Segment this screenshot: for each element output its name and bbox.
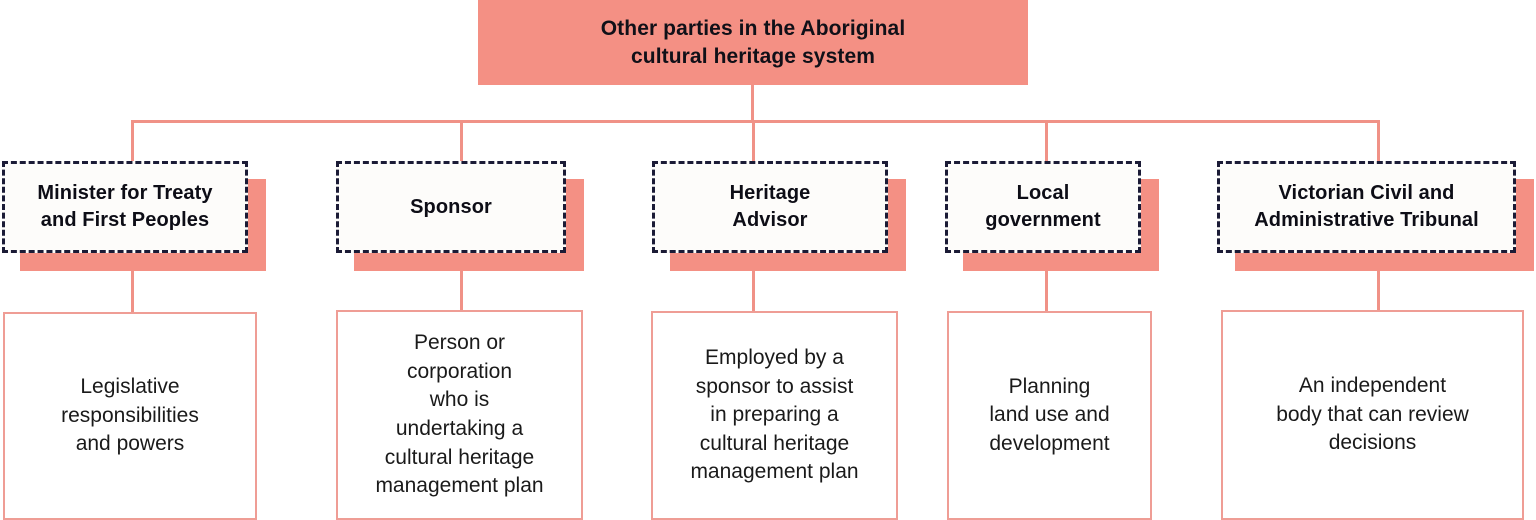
role-node-box[interactable]: Minister for Treaty and First Peoples bbox=[2, 161, 248, 253]
role-node-box[interactable]: Victorian Civil and Administrative Tribu… bbox=[1217, 161, 1516, 253]
description-text: Person or corporation who is undertaking… bbox=[375, 329, 543, 500]
role-node-vcat: Victorian Civil and Administrative Tribu… bbox=[1217, 161, 1516, 253]
description-box-sponsor: Person or corporation who is undertaking… bbox=[336, 310, 583, 520]
role-node-label: Victorian Civil and Administrative Tribu… bbox=[1254, 180, 1479, 233]
connector-drop-3 bbox=[752, 120, 755, 162]
description-text: Planning land use and development bbox=[989, 373, 1109, 459]
role-node-box[interactable]: Sponsor bbox=[336, 161, 566, 253]
connector-role-to-desc-4 bbox=[1045, 269, 1048, 312]
role-node-local-government: Local government bbox=[945, 161, 1141, 253]
connector-drop-1 bbox=[131, 120, 134, 162]
connector-role-to-desc-1 bbox=[131, 269, 134, 313]
description-text: Employed by a sponsor to assist in prepa… bbox=[690, 344, 858, 487]
role-node-sponsor: Sponsor bbox=[336, 161, 566, 253]
description-text: An independent body that can review deci… bbox=[1276, 372, 1469, 458]
role-node-minister: Minister for Treaty and First Peoples bbox=[2, 161, 248, 253]
connector-drop-2 bbox=[460, 120, 463, 162]
connector-horizontal-bar bbox=[131, 120, 1380, 123]
role-node-label: Sponsor bbox=[410, 194, 492, 221]
description-box-vcat: An independent body that can review deci… bbox=[1221, 310, 1524, 520]
connector-drop-5 bbox=[1377, 120, 1380, 162]
role-node-label: Minister for Treaty and First Peoples bbox=[37, 180, 212, 233]
role-node-label: Local government bbox=[985, 180, 1100, 233]
org-chart-diagram: Other parties in the Aboriginal cultural… bbox=[0, 0, 1536, 516]
connector-role-to-desc-2 bbox=[460, 269, 463, 311]
root-node-other-parties: Other parties in the Aboriginal cultural… bbox=[478, 0, 1028, 85]
description-text: Legislative responsibilities and powers bbox=[61, 373, 199, 459]
connector-root-stem bbox=[751, 85, 754, 122]
connector-role-to-desc-5 bbox=[1377, 269, 1380, 311]
role-node-box[interactable]: Local government bbox=[945, 161, 1141, 253]
description-box-heritage-advisor: Employed by a sponsor to assist in prepa… bbox=[651, 311, 898, 520]
connector-role-to-desc-3 bbox=[752, 269, 755, 312]
connector-drop-4 bbox=[1045, 120, 1048, 162]
role-node-label: Heritage Advisor bbox=[730, 180, 811, 233]
description-box-local-government: Planning land use and development bbox=[947, 311, 1152, 520]
root-node-label: Other parties in the Aboriginal cultural… bbox=[601, 15, 906, 71]
role-node-heritage-advisor: Heritage Advisor bbox=[652, 161, 888, 253]
description-box-minister: Legislative responsibilities and powers bbox=[3, 312, 257, 520]
role-node-box[interactable]: Heritage Advisor bbox=[652, 161, 888, 253]
